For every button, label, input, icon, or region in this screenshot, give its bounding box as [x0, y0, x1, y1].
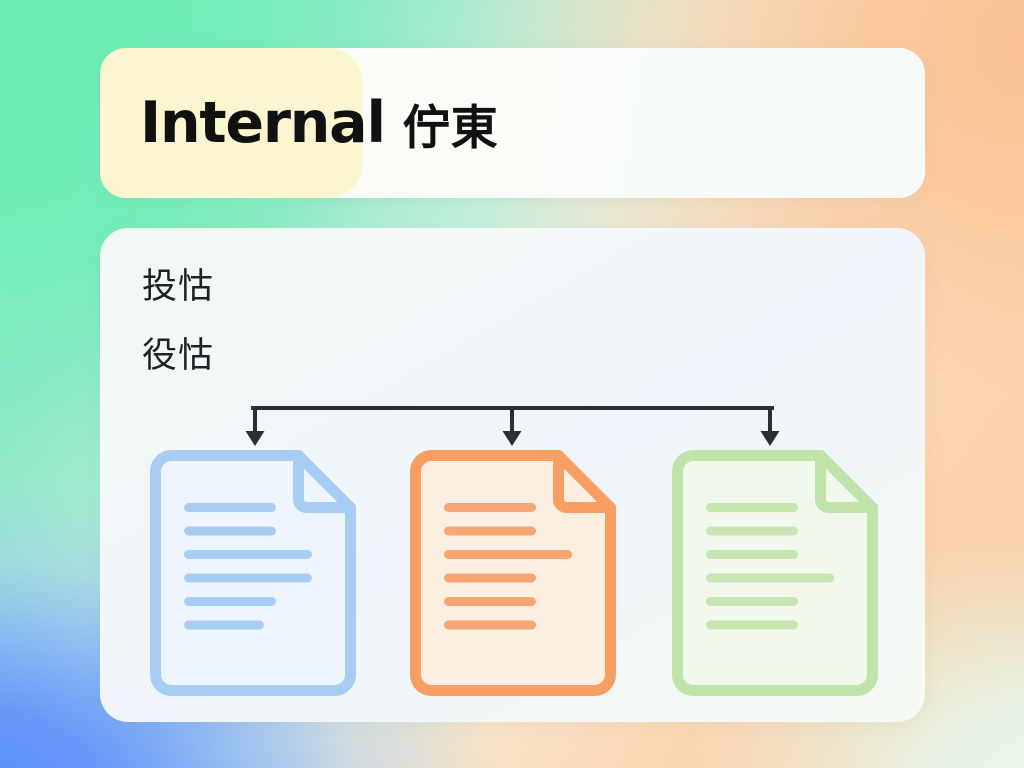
document-blue-text-line-4	[184, 574, 312, 583]
document-blue-text-line-2	[184, 527, 276, 536]
document-orange-text-line-1	[444, 503, 536, 512]
document-orange-text-line-3	[444, 550, 572, 559]
document-orange-icon	[410, 450, 616, 696]
document-blue-text-line-6	[184, 621, 264, 630]
document-blue-icon	[150, 450, 356, 696]
document-green-text-line-2	[706, 527, 798, 536]
document-green-text-line-4	[706, 574, 834, 583]
screen-canvas: Internal 佇東 投怙 役怙	[0, 0, 1024, 768]
header-card: Internal 佇東	[100, 48, 925, 198]
document-green-text-line-6	[706, 621, 798, 630]
document-green-text-line-5	[706, 597, 798, 606]
document-green-text-line-1	[706, 503, 798, 512]
document-green-text-line-3	[706, 550, 798, 559]
document-blue-body	[156, 456, 351, 691]
document-green[interactable]	[672, 450, 878, 701]
document-orange-text-line-5	[444, 597, 536, 606]
document-green-icon	[672, 450, 878, 696]
page-title: Internal 佇東	[140, 48, 499, 198]
page-title-latin: Internal	[140, 90, 385, 156]
document-orange-text-line-4	[444, 574, 536, 583]
document-blue-text-line-5	[184, 597, 276, 606]
document-green-body	[678, 456, 873, 691]
document-orange-text-line-6	[444, 621, 536, 630]
main-content-card: 投怙 役怙	[100, 228, 925, 722]
page-title-cjk: 佇東	[403, 89, 499, 158]
documents-row	[100, 228, 925, 722]
document-orange-text-line-2	[444, 527, 536, 536]
document-orange[interactable]	[410, 450, 616, 701]
document-blue-text-line-3	[184, 550, 312, 559]
document-blue[interactable]	[150, 450, 356, 701]
document-blue-text-line-1	[184, 503, 276, 512]
document-orange-body	[416, 456, 611, 691]
